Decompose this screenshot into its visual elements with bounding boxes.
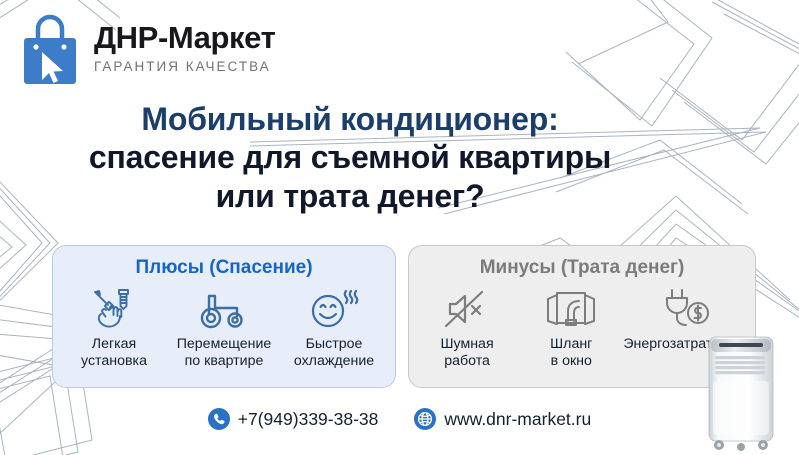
globe-icon [414, 408, 436, 430]
portable-air-conditioner-image [699, 325, 785, 453]
headline: Мобильный кондиционер: спасение для съем… [0, 100, 700, 215]
feature-easy-install: Легкая установка [59, 285, 169, 370]
contact-bar: +7(949)339-38-38 www.dnr-market.ru [0, 408, 799, 430]
feature-window-hose: Шланг в окно [519, 285, 623, 370]
pros-panel: Плюсы (Спасение) [52, 245, 396, 388]
wheeled-cart-icon [197, 288, 251, 330]
feature-label: Перемещение по квартире [169, 336, 279, 370]
feature-label: Легкая установка [59, 336, 169, 370]
website-url: www.dnr-market.ru [444, 409, 591, 430]
cons-panel-title: Минусы (Трата денег) [409, 257, 755, 279]
headline-line-3: или трата денег? [0, 177, 700, 215]
hand-screwdriver-icon [90, 288, 138, 330]
promo-banner: ДНР-Маркет ГАРАНТИЯ КАЧЕСТВА Мобильный к… [0, 0, 799, 455]
phone-icon [208, 408, 230, 430]
feature-label: Шумная работа [415, 336, 519, 370]
brand-logo[interactable]: ДНР-Маркет ГАРАНТИЯ КАЧЕСТВА [18, 14, 275, 86]
smiley-cooling-icon [308, 287, 360, 331]
website-contact[interactable]: www.dnr-market.ru [414, 408, 591, 430]
feature-fast-cooling: Быстрое охлаждение [279, 285, 389, 370]
feature-label: Шланг в окно [519, 336, 623, 370]
pros-panel-title: Плюсы (Спасение) [53, 257, 395, 279]
shopping-bag-cursor-icon [18, 14, 82, 86]
phone-contact[interactable]: +7(949)339-38-38 [208, 408, 379, 430]
feature-mobility: Перемещение по квартире [169, 285, 279, 370]
window-hose-icon [545, 287, 597, 331]
brand-tagline: ГАРАНТИЯ КАЧЕСТВА [94, 59, 275, 74]
feature-noisy: Шумная работа [415, 285, 519, 370]
brand-name: ДНР-Маркет [94, 22, 275, 55]
phone-number: +7(949)339-38-38 [238, 409, 379, 430]
feature-label: Быстрое охлаждение [279, 336, 389, 370]
headline-line-2: спасение для съемной квартиры [0, 138, 700, 176]
speaker-muted-icon [442, 288, 492, 330]
pros-feature-list: Легкая установка Перемещение по квартире [53, 285, 395, 370]
headline-line-1: Мобильный кондиционер: [0, 100, 700, 138]
